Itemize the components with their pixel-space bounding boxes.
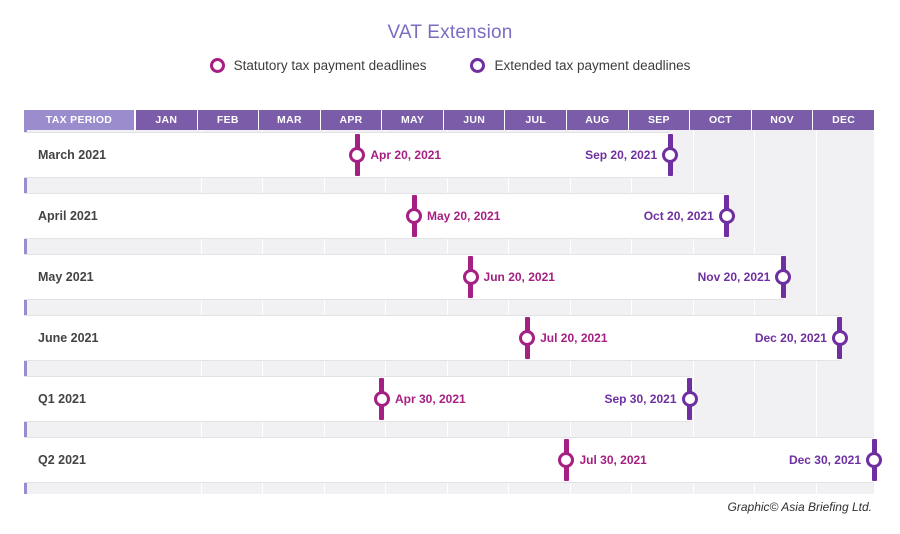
deadline-date-label: Nov 20, 2021: [698, 254, 771, 300]
circle-outline-icon: [210, 58, 225, 73]
row-bar: [24, 437, 874, 483]
row-label-march-2021: March 2021: [38, 132, 106, 178]
header-month-oct: OCT: [690, 110, 752, 130]
timeline-rows: March 2021Apr 20, 2021Sep 20, 2021April …: [24, 130, 874, 494]
deadline-date-label: Oct 20, 2021: [644, 193, 714, 239]
header-month-may: MAY: [382, 110, 444, 130]
header-month-apr: APR: [321, 110, 383, 130]
deadline-date-label: Jun 20, 2021: [484, 254, 555, 300]
table-header: TAX PERIOD JANFEBMARAPRMAYJUNJULAUGSEPOC…: [24, 110, 874, 130]
row-bar: [24, 193, 727, 239]
header-months: JANFEBMARAPRMAYJUNJULAUGSEPOCTNOVDEC: [136, 110, 874, 130]
deadline-date-label: Dec 30, 2021: [789, 437, 861, 483]
circle-outline-icon: [866, 452, 882, 468]
legend: Statutory tax payment deadlines Extended…: [0, 58, 900, 73]
row-label-may-2021: May 2021: [38, 254, 94, 300]
deadline-date-label: Dec 20, 2021: [755, 315, 827, 361]
row-bar: [24, 132, 670, 178]
timeline-row[interactable]: June 2021Jul 20, 2021Dec 20, 2021: [24, 315, 874, 361]
header-month-nov: NOV: [752, 110, 814, 130]
legend-label-extended: Extended tax payment deadlines: [494, 58, 690, 73]
timeline-row[interactable]: Q2 2021Jul 30, 2021Dec 30, 2021: [24, 437, 874, 483]
deadline-date-label: Sep 30, 2021: [604, 376, 676, 422]
circle-outline-icon: [406, 208, 422, 224]
legend-item-statutory: Statutory tax payment deadlines: [210, 58, 427, 73]
circle-outline-icon: [519, 330, 535, 346]
graphic-credit: Graphic© Asia Briefing Ltd.: [728, 500, 872, 514]
deadline-date-label: Jul 20, 2021: [540, 315, 607, 361]
timeline-row[interactable]: March 2021Apr 20, 2021Sep 20, 2021: [24, 132, 874, 178]
row-label-april-2021: April 2021: [38, 193, 98, 239]
timeline-chart: TAX PERIOD JANFEBMARAPRMAYJUNJULAUGSEPOC…: [24, 110, 874, 494]
legend-label-statutory: Statutory tax payment deadlines: [234, 58, 427, 73]
header-month-dec: DEC: [813, 110, 874, 130]
header-month-jun: JUN: [444, 110, 506, 130]
page-title: VAT Extension: [0, 0, 900, 44]
header-month-jul: JUL: [505, 110, 567, 130]
deadline-date-label: Apr 30, 2021: [395, 376, 466, 422]
header-month-sep: SEP: [629, 110, 691, 130]
circle-outline-icon: [662, 147, 678, 163]
circle-outline-icon: [470, 58, 485, 73]
row-bar: [24, 315, 840, 361]
deadline-date-label: Sep 20, 2021: [585, 132, 657, 178]
header-month-feb: FEB: [198, 110, 260, 130]
row-label-q2-2021: Q2 2021: [38, 437, 86, 483]
circle-outline-icon: [463, 269, 479, 285]
header-month-jan: JAN: [136, 110, 198, 130]
circle-outline-icon: [719, 208, 735, 224]
circle-outline-icon: [682, 391, 698, 407]
timeline-row[interactable]: April 2021May 20, 2021Oct 20, 2021: [24, 193, 874, 239]
header-tax-period: TAX PERIOD: [24, 110, 136, 130]
circle-outline-icon: [832, 330, 848, 346]
deadline-date-label: May 20, 2021: [427, 193, 500, 239]
timeline-row[interactable]: Q1 2021Apr 30, 2021Sep 30, 2021: [24, 376, 874, 422]
row-bar: [24, 376, 690, 422]
header-month-aug: AUG: [567, 110, 629, 130]
timeline-row[interactable]: May 2021Jun 20, 2021Nov 20, 2021: [24, 254, 874, 300]
circle-outline-icon: [374, 391, 390, 407]
row-label-q1-2021: Q1 2021: [38, 376, 86, 422]
circle-outline-icon: [775, 269, 791, 285]
legend-item-extended: Extended tax payment deadlines: [470, 58, 690, 73]
deadline-date-label: Jul 30, 2021: [579, 437, 646, 483]
row-label-june-2021: June 2021: [38, 315, 98, 361]
header-month-mar: MAR: [259, 110, 321, 130]
row-bar: [24, 254, 783, 300]
deadline-date-label: Apr 20, 2021: [370, 132, 441, 178]
